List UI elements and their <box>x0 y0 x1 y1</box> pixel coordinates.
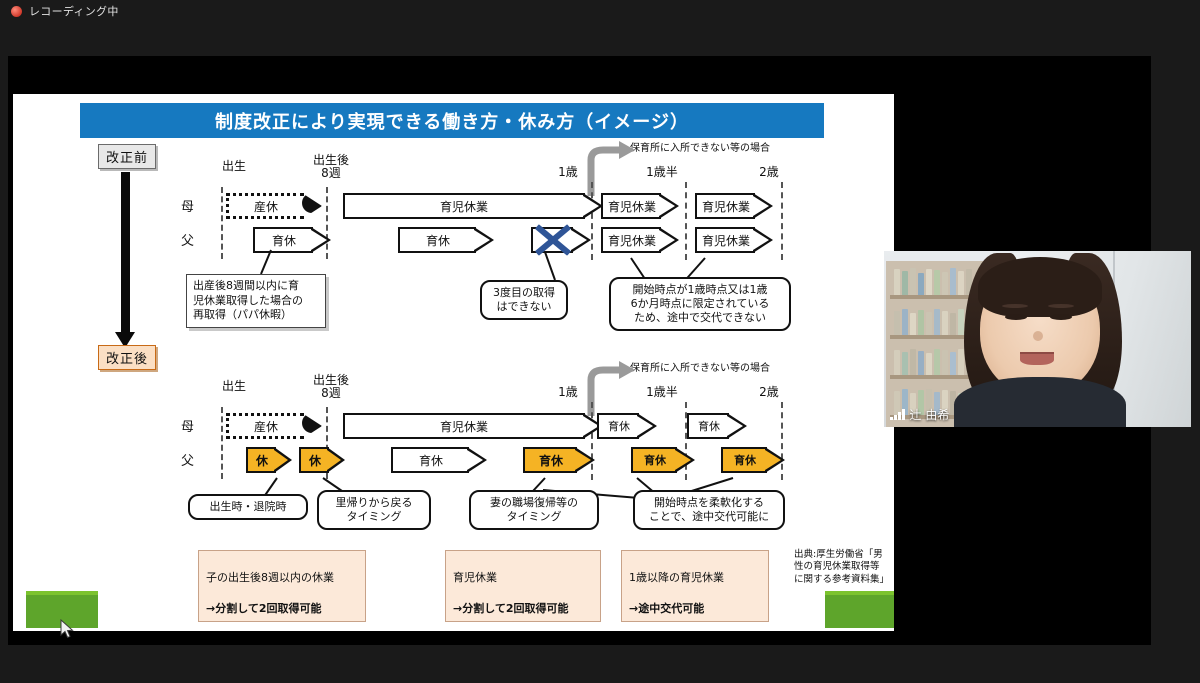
arrow-label: 育休 <box>426 232 450 249</box>
arrow-label: 育休 <box>608 418 630 434</box>
callout-birth-discharge-after: 出生時・退院時 <box>188 494 308 520</box>
row-label-father-after: 父 <box>181 450 194 469</box>
arrow-childcare-mother-1y-after: 育休 <box>597 413 657 439</box>
arrow-label: 育児休業 <box>440 418 488 435</box>
recording-bar: レコーディング中 <box>0 0 1200 22</box>
mouse-cursor <box>60 619 74 639</box>
row-label-mother-after: 母 <box>181 416 194 435</box>
nose <box>1033 331 1043 341</box>
summary-body: →途中交代可能 <box>629 602 704 615</box>
arrow-label: 休 <box>309 452 321 469</box>
page-title: 制度改正により実現できる働き方・休み方（イメージ） <box>215 108 689 134</box>
timeline-label-1half-before: 1歳半 <box>635 166 689 179</box>
arrow-childcare-mother-18m-after: 育休 <box>687 413 747 439</box>
signal-bars-icon <box>890 409 905 420</box>
timeline-label-8weeks-before: 出生後 8週 <box>301 154 361 181</box>
source-note: 出典:厚生労働省「男性の育児休業取得等に関する参考資料集」 <box>794 549 886 587</box>
gridline-2year-before <box>781 182 783 260</box>
blocked-x-icon <box>535 223 571 257</box>
arrow-papa-leave-2-before: 育休 <box>398 227 494 253</box>
timeline-label-1half-after: 1歳半 <box>635 386 689 399</box>
recording-label: レコーディング中 <box>29 3 119 19</box>
summary-head: 育児休業 <box>453 570 593 585</box>
gridline-birth-before <box>221 187 223 259</box>
arrow-label: 育休 <box>734 452 756 468</box>
eye-left <box>1005 314 1027 320</box>
arrow-childcare-father-orange-2-after: 育休 <box>631 447 695 473</box>
section-badge-after: 改正後 <box>98 345 156 370</box>
arrow-label: 育休 <box>539 452 563 469</box>
timeline-label-2year-before: 2歳 <box>747 166 791 179</box>
annotation-rect-right[interactable] <box>825 591 894 628</box>
timeline-label-8weeks-after: 出生後 8週 <box>301 374 361 401</box>
timeline-label-2year-after: 2歳 <box>747 386 791 399</box>
callout-flexible-start-after: 開始時点を柔軟化する ことで、途中交代可能に <box>633 490 785 530</box>
presentation-slide: 制度改正により実現できる働き方・休み方（イメージ） 改正前 出生 出生後 8週 … <box>13 94 894 631</box>
extension-note-before: 保育所に入所できない等の場合 <box>630 143 850 154</box>
arrow-label: 育休 <box>644 452 666 468</box>
gridline-1half-before <box>685 182 687 260</box>
callout-return-home-after: 里帰りから戻る タイミング <box>317 490 431 530</box>
arrow-label: 育児休業 <box>608 198 656 215</box>
zoom-meeting-window: レコーディング中 制度改正により実現できる働き方・休み方（イメージ） 改正前 出… <box>0 0 1200 683</box>
timeline-label-birth-after: 出生 <box>209 380 259 393</box>
summary-box-2: 育児休業 →分割して2回取得可能 <box>445 550 601 622</box>
eyebrow-left <box>1002 304 1028 308</box>
arrow-label: 育児休業 <box>702 232 750 249</box>
callout-wife-return-work-after: 妻の職場復帰等の タイミング <box>469 490 599 530</box>
arrow-label: 産休 <box>254 198 278 215</box>
eye-right <box>1050 314 1072 320</box>
summary-body: →分割して2回取得可能 <box>453 602 569 615</box>
section-badge-before: 改正前 <box>98 144 156 169</box>
hair-top <box>978 257 1102 317</box>
note-papa-leave-before: 出産後8週間以内に育 児休業取得した場合の 再取得（パパ休暇） <box>186 274 326 328</box>
mouth <box>1020 352 1054 365</box>
arrow-childcare-leave-mother-1y-before: 育児休業 <box>601 193 679 219</box>
arrow-label: 育児休業 <box>608 232 656 249</box>
participant-name: 辻 由希 <box>910 406 950 423</box>
arrow-childcare-leave-mother-18m-before: 育児休業 <box>695 193 773 219</box>
row-label-mother-before: 母 <box>181 196 194 215</box>
arrow-label: 育休 <box>419 452 443 469</box>
arrow-label: 育児休業 <box>440 198 488 215</box>
arrow-label: 育休 <box>698 418 720 434</box>
arrow-label: 休 <box>256 452 268 469</box>
summary-box-1: 子の出生後8週以内の休業 →分割して2回取得可能 <box>198 550 366 622</box>
eyebrow-right <box>1048 304 1074 308</box>
gridline-birth-after <box>221 407 223 479</box>
arrow-childcare-leave-father-1y-before: 育児休業 <box>601 227 679 253</box>
record-dot-icon <box>11 6 22 17</box>
row-label-father-before: 父 <box>181 230 194 249</box>
arrow-label: 育児休業 <box>702 198 750 215</box>
summary-head: 子の出生後8週以内の休業 <box>206 570 358 585</box>
arrow-birth-leave-2-after: 休 <box>299 447 345 473</box>
participant-torso <box>954 377 1126 427</box>
extension-note-after: 保育所に入所できない等の場合 <box>630 363 850 374</box>
arrow-childcare-leave-mother-after: 育児休業 <box>343 413 603 439</box>
arrow-maternity-leave-after: 産休 <box>226 413 322 439</box>
arrow-label: 産休 <box>254 418 278 435</box>
video-frame <box>884 251 1191 427</box>
callout-no-third-before: 3度目の取得 はできない <box>480 280 568 320</box>
summary-body: →分割して2回取得可能 <box>206 602 322 615</box>
arrow-childcare-leave-mother-before: 育児休業 <box>343 193 603 219</box>
timeline-label-birth-before: 出生 <box>209 160 259 173</box>
arrow-childcare-father-white-after: 育休 <box>391 447 487 473</box>
arrow-childcare-leave-father-18m-before: 育児休業 <box>695 227 773 253</box>
arrow-birth-leave-1-after: 休 <box>246 447 292 473</box>
arrow-childcare-father-orange-3-after: 育休 <box>721 447 785 473</box>
arrow-label: 育休 <box>272 232 296 249</box>
arrow-childcare-father-orange-1-after: 育休 <box>523 447 595 473</box>
slide-title-bar: 制度改正により実現できる働き方・休み方（イメージ） <box>80 103 824 138</box>
summary-box-3: 1歳以降の育児休業 →途中交代可能 <box>621 550 769 622</box>
participant-video-tile[interactable]: 辻 由希 <box>884 251 1191 427</box>
arrow-maternity-leave-before: 産休 <box>226 193 322 219</box>
callout-no-switch-before: 開始時点が1歳時点又は1歳 6か月時点に限定されている ため、途中で交代できない <box>609 277 791 331</box>
participant-name-overlay: 辻 由希 <box>890 406 949 423</box>
summary-head: 1歳以降の育児休業 <box>629 570 761 585</box>
